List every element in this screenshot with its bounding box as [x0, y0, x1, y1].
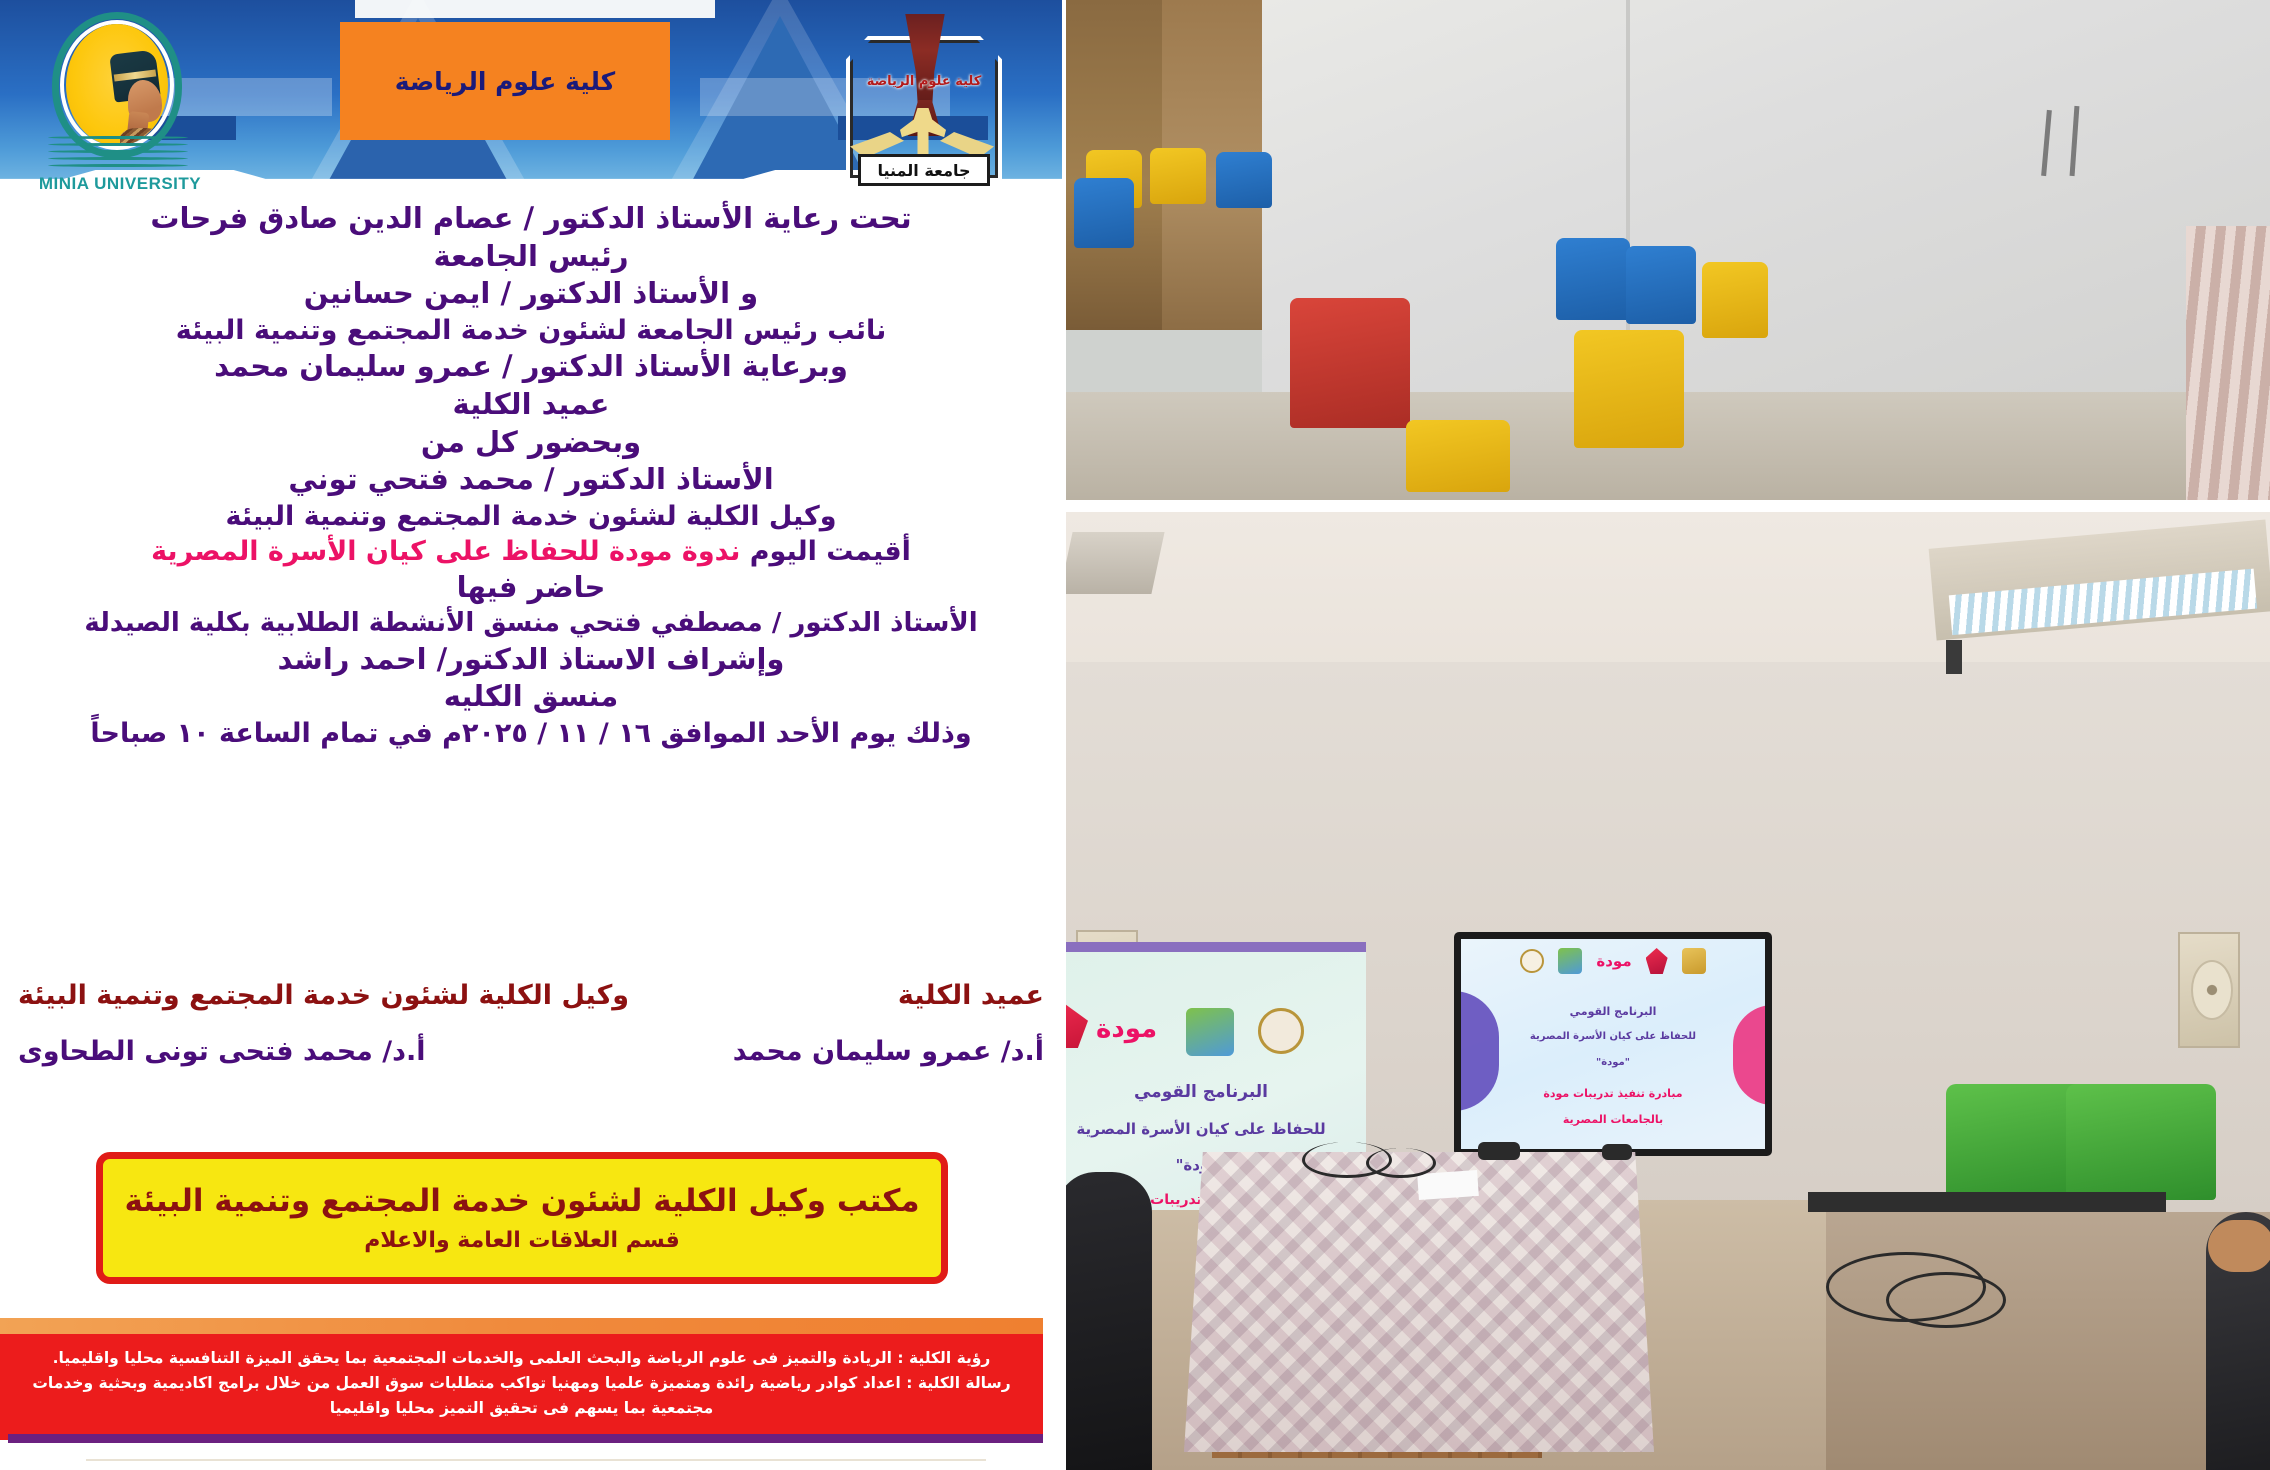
footer-orange-bar [0, 1318, 1043, 1334]
floor-cable [1886, 1272, 2006, 1328]
slide-logo-row: مودة [1461, 939, 1765, 983]
slide-program-line2: للحفاظ على كيان الأسرة المصرية [1461, 1031, 1765, 1042]
seminar-headline: أقيمت اليوم ندوة مودة للحفاظ على كيان ال… [0, 534, 1062, 569]
logo-oval-field [66, 24, 168, 146]
office-credit-box: مكتب وكيل الكلية لشئون خدمة المجتمع وتنم… [96, 1152, 948, 1284]
microphone-base [1478, 1142, 1520, 1160]
hanging-sensor-icon [1946, 640, 1962, 674]
office-credit-subtitle: قسم العلاقات العامة والاعلام [364, 1228, 680, 1253]
photo-panel-discussion: مودة البرنامج القومي للحفاظ على كيان الأ… [1066, 512, 2270, 1470]
bench-frame [1808, 1192, 2166, 1212]
slide-logo-seal-icon [1520, 949, 1544, 973]
slide-program-title: البرنامج القومي [1066, 1082, 1366, 1102]
footer-divider [86, 1459, 986, 1461]
footer-purple-bar [8, 1434, 1043, 1443]
slide-initiative-line2: بالجامعات المصرية [1461, 1113, 1765, 1126]
announcement-document: MINIA UNIVERSITY كلية علوم الرياضة كلية … [0, 0, 1062, 1470]
dean-title: عميد الكلية [898, 980, 1044, 1011]
foreground-attendee-head [2208, 1220, 2270, 1272]
body-line-2: رئيس الجامعة [0, 238, 1062, 276]
photo-column: olb [1062, 0, 2270, 1470]
dean-name: أ.د/ عمرو سليمان محمد [733, 1036, 1044, 1067]
body-line-5: وبرعاية الأستاذ الدكتور / عمرو سليمان مح… [0, 348, 1062, 386]
chair [1074, 178, 1134, 248]
faculty-title-text: كلية علوم الرياضة [395, 67, 615, 96]
display-slide: مودة البرنامج القومي للحفاظ على كيان الأ… [1461, 939, 1765, 1149]
chair [1406, 420, 1510, 492]
wall-speaker-right-icon [2178, 932, 2240, 1048]
slide-logo-nabta-icon [1646, 948, 1668, 974]
slide-logo-nabta-icon [1066, 1004, 1088, 1048]
microphone-cable [1366, 1148, 1436, 1178]
university-name-en: MINIA UNIVERSITY [22, 174, 218, 194]
body-line-11: الأستاذ الدكتور / مصطفي فتحي منسق الأنشط… [0, 607, 1062, 641]
vice-dean-title: وكيل الكلية لشئون خدمة المجتمع وتنمية ال… [18, 980, 629, 1011]
microphone-base [1602, 1144, 1632, 1160]
slide-initiative-line1: مبادرة تنفيذ تدريبات مودة [1461, 1087, 1765, 1100]
signature-row-titles: عميد الكلية وكيل الكلية لشئون خدمة المجت… [0, 980, 1062, 1036]
vice-dean-name: أ.د/ محمد فتحى تونى الطحاوى [18, 1036, 426, 1067]
chair [1290, 298, 1410, 428]
announcement-body: تحت رعاية الأستاذ الدكتور / عصام الدين ص… [0, 200, 1062, 751]
seminar-headline-prefix: أقيمت اليوم [740, 536, 911, 567]
minia-university-logo: MINIA UNIVERSITY [22, 6, 212, 186]
slide-logo-1-icon [1682, 948, 1706, 974]
body-line-3: و الأستاذ الدكتور / ايمن حسانين [0, 275, 1062, 313]
curtain [2186, 226, 2270, 500]
footer-vision-text: رؤية الكلية : الريادة والتميز فى علوم ال… [20, 1346, 1023, 1371]
slide-logo-ministry-icon [1186, 1008, 1234, 1056]
faculty-logo-banner: جامعة المنيا [858, 154, 990, 186]
body-line-6: عميد الكلية [0, 386, 1062, 424]
photo-seminar-audience: olb [1066, 0, 2270, 500]
signature-row-names: أ.د/ عمرو سليمان محمد أ.د/ محمد فتحى تون… [0, 1036, 1062, 1092]
footer-vision-mission: رؤية الكلية : الريادة والتميز فى علوم ال… [0, 1334, 1043, 1440]
smart-display-board[interactable]: مودة البرنامج القومي للحفاظ على كيان الأ… [1454, 932, 1772, 1156]
body-line-4: نائب رئيس الجامعة لشئون خدمة المجتمع وتن… [0, 313, 1062, 348]
signature-block: عميد الكلية وكيل الكلية لشئون خدمة المجت… [0, 980, 1062, 1092]
body-line-8: الأستاذ الدكتور / محمد فتحي توني [0, 461, 1062, 499]
body-line-10: حاضر فيها [0, 569, 1062, 607]
slide-program-line2: للحفاظ على كيان الأسرة المصرية [1066, 1120, 1366, 1138]
poster-page: MINIA UNIVERSITY كلية علوم الرياضة كلية … [0, 0, 2270, 1470]
papers-on-table [1417, 1170, 1479, 1200]
faculty-sport-sciences-logo: كلية علوم الرياضة جامعة المنيا [828, 4, 1018, 192]
chair [1626, 246, 1696, 324]
office-credit-title: مكتب وكيل الكلية لشئون خدمة المجتمع وتنم… [124, 1183, 919, 1219]
seminar-name-highlight: ندوة مودة للحفاظ على كيان الأسرة المصرية [151, 536, 740, 567]
faculty-logo-arabic-bottom: جامعة المنيا [877, 161, 970, 180]
slide-program-title: البرنامج القومي [1461, 1005, 1765, 1018]
body-line-1: تحت رعاية الأستاذ الدكتور / عصام الدين ص… [0, 200, 1062, 238]
slide-brand-mawadda: مودة [1096, 1014, 1157, 1044]
event-datetime-line: وذلك يوم الأحد الموافق ١٦ / ١١ / ٢٠٢٥م ف… [0, 716, 1062, 751]
footer-mission-text: رسالة الكلية : اعداد كوادر رياضية رائدة … [20, 1371, 1023, 1421]
open-book-icon [48, 134, 188, 174]
chair [1150, 148, 1206, 204]
slide-logo-ministry-icon [1558, 948, 1582, 974]
body-line-9: وكيل الكلية لشئون خدمة المجتمع وتنمية ال… [0, 499, 1062, 534]
slide-logo-seal-icon [1258, 1008, 1304, 1054]
slide-program-name: "مودة" [1461, 1057, 1765, 1068]
faculty-logo-arabic-top: كلية علوم الرياضة [854, 74, 994, 89]
ceiling-light-left-icon [1066, 532, 1165, 594]
faculty-title-box: كلية علوم الرياضة [340, 22, 670, 140]
chair [1556, 238, 1630, 320]
chair [1216, 152, 1272, 208]
chair [1702, 262, 1768, 338]
foreground-attendee-left [1066, 1172, 1152, 1470]
body-line-7: وبحضور كل من [0, 424, 1062, 462]
chair [1574, 330, 1684, 448]
room-wall [1262, 0, 2270, 400]
body-line-13: منسق الكليه [0, 678, 1062, 716]
body-line-12: وإشراف الاستاذ الدكتور/ احمد راشد [0, 641, 1062, 679]
green-bench-seat [2066, 1084, 2216, 1200]
slide-brand-mawadda: مودة [1596, 952, 1631, 970]
